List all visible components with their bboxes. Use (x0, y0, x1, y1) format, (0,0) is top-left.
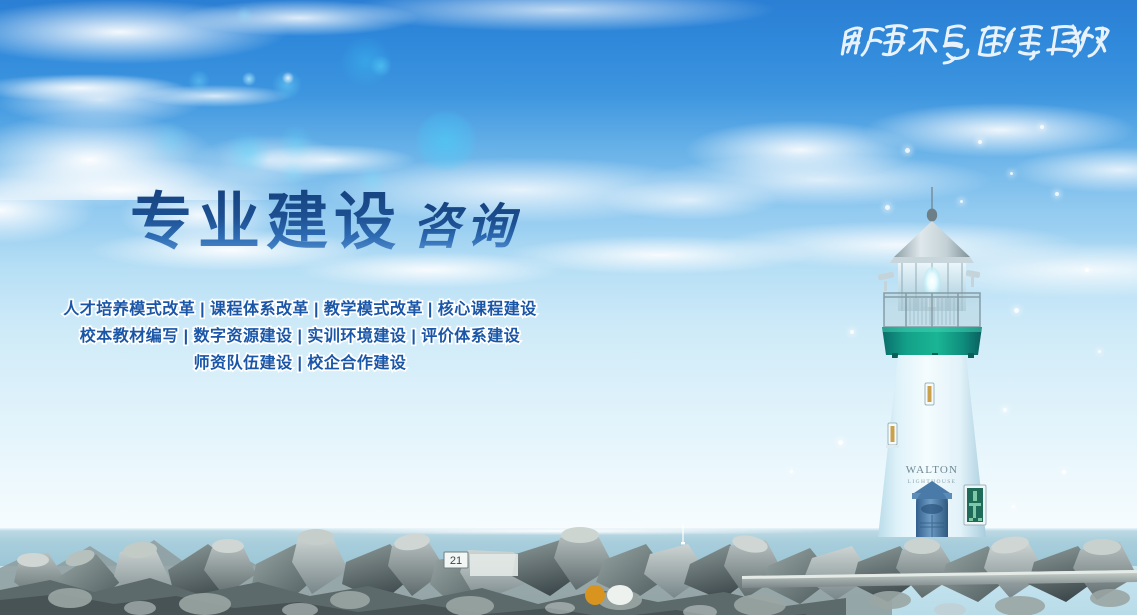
cloud-mass-left (0, 40, 410, 300)
page-title: 专业建设咨询 专业建设咨询 (130, 192, 520, 254)
headline-primary: 专业建设 (130, 188, 402, 257)
calligraphy-motto (838, 16, 1113, 72)
bokeh-circle (150, 120, 190, 160)
bokeh-circle (340, 35, 392, 87)
keyword-line-3-text: 师资队伍建设 | 校企合作建设 (194, 355, 407, 372)
breakwater-rocks: 21 (0, 520, 1137, 615)
sparkle (790, 470, 793, 473)
keyword-list: 人才培养模式改革 | 课程体系改革 | 教学模式改革 | 核心课程建设 人才培养… (0, 296, 600, 377)
bokeh-circle (415, 110, 477, 172)
bokeh-circle (370, 55, 392, 77)
sparkle (1098, 350, 1101, 353)
sparkle (1085, 268, 1089, 272)
bokeh-circle (225, 130, 271, 176)
keyword-line-2-text: 校本教材编写 | 数字资源建设 | 实训环境建设 | 评价体系建设 (80, 328, 521, 345)
sparkle (1010, 172, 1013, 175)
bokeh-circle (278, 125, 314, 161)
keyword-line-1: 人才培养模式改革 | 课程体系改革 | 教学模式改革 | 核心课程建设 人才培养… (0, 296, 600, 323)
headline-secondary: 咨询 (402, 201, 520, 254)
bokeh-circle (280, 160, 306, 186)
bokeh-circle (282, 72, 294, 84)
sparkle (1040, 125, 1044, 129)
sparkle (905, 148, 910, 153)
lighthouse-name-text: WALTON (906, 464, 958, 476)
keyword-line-2: 校本教材编写 | 数字资源建设 | 实训环境建设 | 评价体系建设 校本教材编写… (0, 323, 600, 350)
bokeh-circle (188, 70, 210, 92)
banner-image: WALTON LIGHTHOUSE (0, 0, 1137, 615)
rock-sign-number: 21 (450, 555, 462, 567)
keyword-line-3: 师资队伍建设 | 校企合作建设 师资队伍建设 | 校企合作建设 (0, 350, 600, 377)
keyword-line-1-text: 人才培养模式改革 | 课程体系改革 | 教学模式改革 | 核心课程建设 (63, 301, 537, 318)
bokeh-circle (242, 72, 256, 86)
orange-marker (585, 585, 605, 605)
bokeh-circle (272, 70, 302, 100)
lighthouse-illustration: WALTON LIGHTHOUSE (840, 185, 1070, 555)
sparkle (978, 140, 982, 144)
bokeh-circle (235, 6, 253, 24)
